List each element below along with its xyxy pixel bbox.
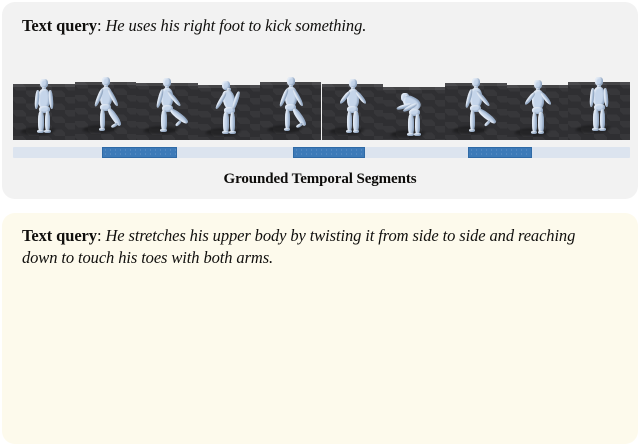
text-query-label-2: Text query <box>22 226 97 245</box>
text-query-separator-2: : <box>97 226 101 245</box>
mesh-foot <box>538 131 545 134</box>
human-mesh-figure <box>461 78 491 132</box>
video-frame <box>75 57 137 140</box>
video-frame <box>260 57 322 140</box>
video-frame <box>507 60 569 140</box>
video-frame <box>198 60 260 140</box>
example-panel-stretch: Text query: He stretches his upper body … <box>2 213 638 444</box>
example-panel-kick: Text query: He uses his right foot to ki… <box>2 2 638 199</box>
human-mesh-figure <box>152 78 182 132</box>
text-query-value-1: He uses his right foot to kick something… <box>105 16 366 35</box>
human-mesh-figure <box>29 79 59 133</box>
frame-sequence-1 <box>13 57 630 140</box>
text-query-line-1: Text query: He uses his right foot to ki… <box>2 2 638 37</box>
human-mesh-figure <box>399 82 429 136</box>
mesh-foot <box>469 129 476 132</box>
grounded-segment[interactable] <box>293 147 365 158</box>
video-frame <box>322 59 384 140</box>
mesh-foot <box>110 123 117 129</box>
mesh-foot <box>407 133 414 136</box>
video-frame <box>13 59 75 140</box>
mesh-foot <box>160 129 167 132</box>
video-frame <box>568 57 630 140</box>
human-mesh-figure <box>276 77 306 131</box>
mesh-foot <box>346 130 353 133</box>
text-query-line-2: Text query: He stretches his upper body … <box>2 213 638 269</box>
mesh-arm <box>603 87 609 106</box>
mesh-foot <box>284 128 291 131</box>
human-mesh-figure <box>91 77 121 131</box>
text-query-separator-1: : <box>97 16 101 35</box>
mesh-foot <box>175 120 182 127</box>
video-frame <box>445 58 507 140</box>
timeline-caption-1: Grounded Temporal Segments <box>2 171 638 188</box>
mesh-foot <box>37 130 44 133</box>
video-frame-strip-kick <box>13 57 630 140</box>
human-mesh-figure <box>214 80 244 134</box>
mesh-foot <box>353 130 360 133</box>
mesh-foot <box>222 131 229 134</box>
mesh-foot <box>414 133 421 136</box>
video-frame <box>136 58 198 140</box>
temporal-timeline-track-1[interactable] <box>13 147 630 158</box>
mesh-foot <box>44 130 51 133</box>
mesh-foot <box>229 131 236 134</box>
human-mesh-figure <box>338 79 368 133</box>
mesh-foot <box>99 128 106 131</box>
mesh-foot <box>531 131 538 134</box>
grounded-segment[interactable] <box>468 147 532 158</box>
human-mesh-figure <box>584 77 614 131</box>
mesh-foot <box>484 120 491 127</box>
mesh-foot <box>592 128 599 131</box>
text-query-value-2: He stretches his upper body by twisting … <box>22 226 575 267</box>
mesh-arm <box>48 89 54 108</box>
video-frame <box>383 62 445 140</box>
grounded-segment[interactable] <box>102 147 177 158</box>
human-mesh-figure <box>523 80 553 134</box>
mesh-foot <box>295 123 302 129</box>
mesh-foot <box>599 128 606 131</box>
text-query-label-1: Text query <box>22 16 97 35</box>
